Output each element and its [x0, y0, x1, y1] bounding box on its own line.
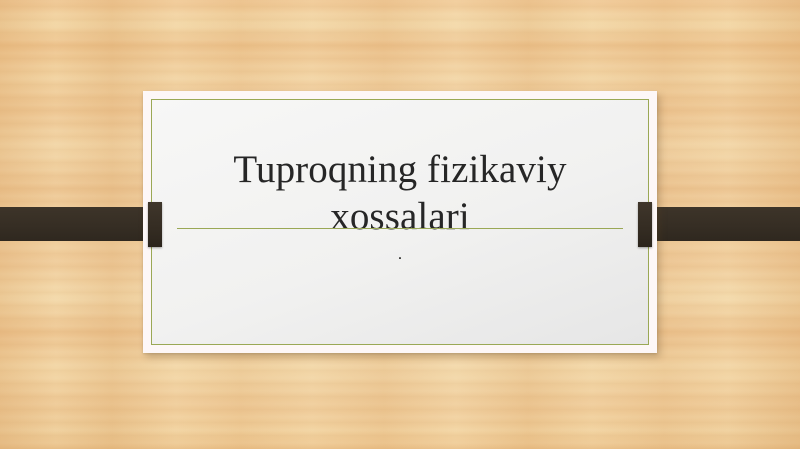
slide-subtitle: .	[178, 244, 622, 264]
title-line-2: xossalari	[330, 195, 470, 238]
left-dark-band	[0, 207, 158, 241]
left-band-end-cap	[148, 202, 162, 247]
right-band-end-cap	[638, 202, 652, 247]
right-dark-band	[642, 207, 800, 241]
presentation-slide: Tuproqning fizikaviyxossalari .	[0, 0, 800, 449]
title-block: Tuproqning fizikaviyxossalari	[178, 146, 622, 240]
card-inner-green-frame: Tuproqning fizikaviyxossalari .	[151, 99, 649, 345]
title-card: Tuproqning fizikaviyxossalari .	[143, 91, 657, 353]
title-line-1: Tuproqning fizikaviy	[233, 148, 566, 191]
page-title: Tuproqning fizikaviyxossalari	[178, 146, 622, 240]
title-underline-rule	[177, 228, 623, 229]
